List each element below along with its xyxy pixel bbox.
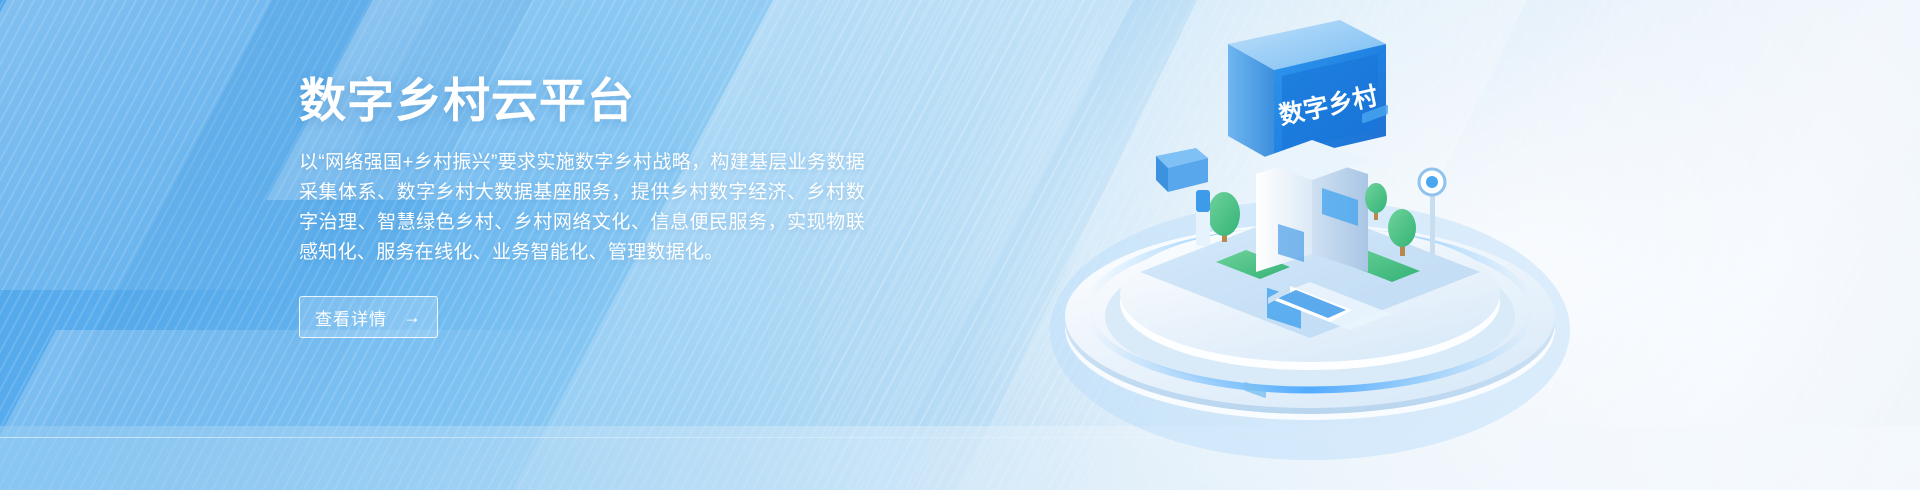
ground-plate <box>1140 206 1480 338</box>
background-stripes-right <box>820 0 1920 490</box>
billboard: 数字乡村 <box>1228 20 1386 162</box>
tree-right <box>1388 209 1416 256</box>
info-pillar <box>1196 190 1210 246</box>
digital-village-illustration: 数字乡村 <box>960 10 1680 480</box>
billboard-text: 数字乡村 <box>1276 81 1380 130</box>
kiosk-window <box>1267 288 1301 329</box>
platform-glow-ring <box>1088 230 1532 390</box>
service-terminal <box>1268 286 1352 322</box>
ground-block-1 <box>1362 104 1388 123</box>
page-title: 数字乡村云平台 <box>299 72 899 129</box>
kiosk-building <box>1256 140 1368 329</box>
floating-card <box>1156 148 1208 192</box>
bottom-divider <box>0 437 1920 438</box>
background-shard-6 <box>948 0 1541 490</box>
scene-glow <box>1050 200 1570 460</box>
hero-banner: 数字乡村云平台 以“网络强国+乡村振兴”要求实施数字乡村战略，构建基层业务数据采… <box>0 0 1920 490</box>
view-details-button[interactable]: 查看详情 → <box>299 296 438 338</box>
tree-mid <box>1365 183 1387 220</box>
bottom-band <box>0 426 1920 490</box>
arrow-right-icon: → <box>403 308 422 326</box>
banner-description: 以“网络强国+乡村振兴”要求实施数字乡村战略，构建基层业务数据采集体系、数字乡村… <box>299 148 865 268</box>
billboard-post <box>1306 160 1315 246</box>
road <box>1268 282 1392 330</box>
street-lamp <box>1419 169 1445 258</box>
view-details-label: 查看详情 <box>315 305 387 330</box>
grass-strip-left <box>1216 250 1290 279</box>
tree-left <box>1208 192 1240 242</box>
ground-block-2 <box>1244 381 1266 398</box>
background-wash <box>0 0 1920 490</box>
background-shard-4 <box>0 330 576 490</box>
grass-strip-right <box>1328 246 1420 282</box>
banner-content: 数字乡村云平台 以“网络强国+乡村振兴”要求实施数字乡村战略，构建基层业务数据采… <box>299 72 899 338</box>
kiosk-door <box>1278 224 1304 262</box>
